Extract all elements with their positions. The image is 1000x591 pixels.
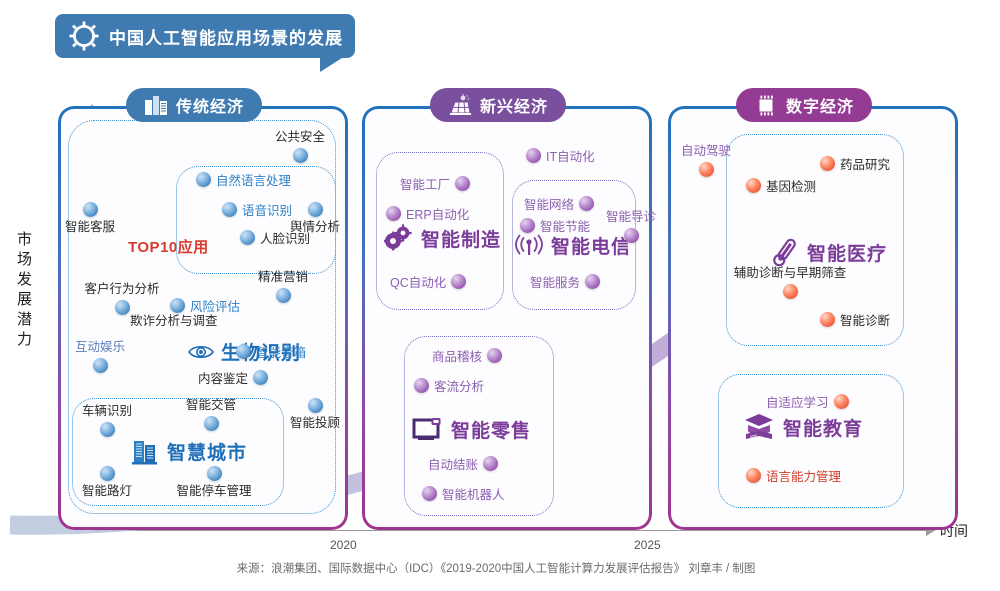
panel-header-label: 数字经济 xyxy=(786,93,854,117)
node-label: 客流分析 xyxy=(434,376,484,395)
node-face-recognition[interactable]: 人脸识别 xyxy=(240,228,310,247)
cluster-smart-city: 智慧城市 xyxy=(130,436,247,466)
data-point-dot xyxy=(585,274,600,289)
node-label: 智能交管 xyxy=(186,398,236,413)
node-label: 人脸识别 xyxy=(260,228,310,247)
node-auto-checkout[interactable]: 自动结账 xyxy=(428,454,498,473)
node-label: 车辆识别 xyxy=(82,404,132,419)
node-label: 智能投顾 xyxy=(290,416,340,431)
node-it-automation[interactable]: IT自动化 xyxy=(526,146,595,165)
data-point-dot xyxy=(293,148,308,163)
node-smart-parking[interactable]: 智能停车管理 xyxy=(170,466,258,499)
gears-icon xyxy=(384,224,414,252)
data-point-dot xyxy=(207,466,222,481)
node-label: 智能音箱 xyxy=(256,342,306,361)
data-point-dot xyxy=(204,416,219,431)
cluster-smart-telecom: 智能电信 xyxy=(514,232,631,259)
panel-digital-economy: 数字经济 智能医疗 xyxy=(668,106,958,530)
data-point-dot xyxy=(222,202,237,217)
data-point-dot xyxy=(236,344,251,359)
panel-traditional-economy: 传统经济 TOP10应用 生物识别 xyxy=(58,106,348,530)
node-smart-energy-saving[interactable]: 智能节能 xyxy=(520,216,590,235)
data-point-dot xyxy=(483,456,498,471)
node-smart-advisory[interactable]: 智能投顾 xyxy=(284,398,346,431)
data-point-dot xyxy=(699,162,714,177)
data-point-dot xyxy=(115,300,130,315)
node-label: QC自动化 xyxy=(390,272,446,291)
data-point-dot xyxy=(820,156,835,171)
cluster-title: 智能教育 xyxy=(783,414,863,441)
node-label: 精准营销 xyxy=(258,270,308,285)
node-label: 自动结账 xyxy=(428,454,478,473)
node-label: 智能网络 xyxy=(524,194,574,213)
data-point-dot xyxy=(455,176,470,191)
node-label: 客户行为分析 xyxy=(84,282,159,297)
node-precision-marketing[interactable]: 精准营销 xyxy=(248,270,318,303)
node-label: 智能服务 xyxy=(530,272,580,291)
data-point-dot xyxy=(100,466,115,481)
data-point-dot xyxy=(276,288,291,303)
antenna-icon xyxy=(514,234,544,258)
node-smart-speaker[interactable]: 智能音箱 xyxy=(236,342,306,361)
node-label: 智能节能 xyxy=(540,216,590,235)
node-label: 自然语言处理 xyxy=(216,170,291,189)
node-label: 自适应学习 xyxy=(766,392,829,411)
data-point-dot xyxy=(308,398,323,413)
cluster-smart-retail: 智能零售 xyxy=(412,416,531,443)
node-label: 智能停车管理 xyxy=(176,484,251,499)
data-point-dot xyxy=(520,218,535,233)
data-point-dot xyxy=(746,178,761,193)
panel-header-label: 传统经济 xyxy=(176,93,244,117)
node-autonomous-driving[interactable]: 自动驾驶 xyxy=(678,144,734,177)
node-label: 内容鉴定 xyxy=(198,368,248,387)
node-label: 基因检测 xyxy=(766,176,816,195)
buildings-icon xyxy=(144,94,168,116)
node-erp-automation[interactable]: ERP自动化 xyxy=(386,204,469,223)
node-label: 语言能力管理 xyxy=(766,466,841,485)
node-adaptive-learning[interactable]: 自适应学习 xyxy=(766,392,849,411)
node-smart-robot[interactable]: 智能机器人 xyxy=(422,484,505,503)
node-label: 公共安全 xyxy=(275,130,325,145)
cluster-title: 智能医疗 xyxy=(807,239,887,266)
panel-header-emerging-economy: 新兴经济 xyxy=(430,88,566,122)
node-gene-testing[interactable]: 基因检测 xyxy=(746,176,816,195)
cluster-title: 智能零售 xyxy=(451,416,531,443)
panel-emerging-economy: 新兴经济 智能制造 xyxy=(362,106,652,530)
node-language-ability-management[interactable]: 语言能力管理 xyxy=(746,466,841,485)
data-point-dot xyxy=(196,172,211,187)
node-label: ERP自动化 xyxy=(406,204,469,223)
city-building-icon xyxy=(130,436,160,466)
data-point-dot xyxy=(451,274,466,289)
node-content-review[interactable]: 内容鉴定 xyxy=(198,368,268,387)
data-point-dot xyxy=(386,206,401,221)
data-point-dot xyxy=(240,230,255,245)
cluster-smart-manufacturing: 智能制造 xyxy=(384,224,501,252)
cluster-title: 智能制造 xyxy=(421,225,501,252)
node-label: 智能工厂 xyxy=(400,174,450,193)
node-label: IT自动化 xyxy=(546,146,595,165)
chip-icon xyxy=(754,94,778,116)
data-point-dot xyxy=(422,486,437,501)
data-point-dot xyxy=(308,202,323,217)
cluster-title: 智慧城市 xyxy=(167,438,247,465)
node-drug-research[interactable]: 药品研究 xyxy=(820,154,890,173)
node-public-safety[interactable]: 公共安全 xyxy=(280,130,320,163)
node-label: 商品稽核 xyxy=(432,346,482,365)
data-point-dot xyxy=(783,284,798,299)
thermometer-icon xyxy=(770,236,800,268)
panel-header-digital-economy: 数字经济 xyxy=(736,88,872,122)
node-smart-factory[interactable]: 智能工厂 xyxy=(400,174,470,193)
infographic-canvas: 市场发展潜力 时间 2020 2025 来源：浪潮集团、国际数据中心（IDC）《… xyxy=(0,0,1000,591)
node-label: 智能诊断 xyxy=(840,310,890,329)
solar-panel-icon xyxy=(448,94,472,116)
data-point-dot xyxy=(100,422,115,437)
node-assisted-diagnosis[interactable]: 辅助诊断与早期筛查 xyxy=(732,266,848,299)
data-point-dot xyxy=(579,196,594,211)
monitor-icon xyxy=(412,417,444,443)
data-point-dot xyxy=(253,370,268,385)
node-smart-customer-service[interactable]: 智能客服 xyxy=(70,202,110,235)
node-label: 语音识别 xyxy=(242,200,292,219)
data-point-dot xyxy=(487,348,502,363)
eye-icon xyxy=(188,343,214,361)
node-merchandise-audit[interactable]: 商品稽核 xyxy=(432,346,502,365)
node-label: 智能客服 xyxy=(65,220,115,235)
node-smart-traffic-management[interactable]: 智能交管 xyxy=(182,398,240,431)
node-smart-service[interactable]: 智能服务 xyxy=(530,272,600,291)
node-label: 辅助诊断与早期筛查 xyxy=(734,266,847,281)
node-label: 智能导诊 xyxy=(606,210,656,225)
node-label: 智能机器人 xyxy=(442,484,505,503)
cluster-smart-healthcare: 智能医疗 xyxy=(770,236,887,268)
node-smart-streetlight[interactable]: 智能路灯 xyxy=(78,466,136,499)
node-label: 欺诈分析与调查 xyxy=(130,310,218,329)
data-point-dot xyxy=(834,394,849,409)
node-interactive-entertainment[interactable]: 互动娱乐 xyxy=(72,340,128,373)
data-point-dot xyxy=(93,358,108,373)
data-point-dot xyxy=(414,378,429,393)
cluster-smart-education: 智能教育 xyxy=(742,412,863,442)
graduation-book-icon xyxy=(742,412,776,442)
node-customer-flow-analysis[interactable]: 客流分析 xyxy=(414,376,484,395)
data-point-dot xyxy=(746,468,761,483)
data-point-dot xyxy=(526,148,541,163)
node-smart-triage[interactable]: 智能导诊 xyxy=(616,210,646,243)
panel-header-traditional-economy: 传统经济 xyxy=(126,88,262,122)
node-label: 智能路灯 xyxy=(82,484,132,499)
data-point-dot xyxy=(624,228,639,243)
data-point-dot xyxy=(820,312,835,327)
node-label: 互动娱乐 xyxy=(75,340,125,355)
panel-header-label: 新兴经济 xyxy=(480,93,548,117)
node-vehicle-recognition[interactable]: 车辆识别 xyxy=(78,404,136,437)
node-label: 药品研究 xyxy=(840,154,890,173)
node-fraud-analysis[interactable]: 欺诈分析与调查 xyxy=(130,310,218,329)
data-point-dot xyxy=(83,202,98,217)
node-smart-diagnosis[interactable]: 智能诊断 xyxy=(820,310,890,329)
node-speech-recognition[interactable]: 语音识别 xyxy=(222,200,292,219)
node-label: 自动驾驶 xyxy=(681,144,731,159)
node-qc-automation[interactable]: QC自动化 xyxy=(390,272,466,291)
node-smart-network[interactable]: 智能网络 xyxy=(524,194,594,213)
node-nlp[interactable]: 自然语言处理 xyxy=(196,170,291,189)
